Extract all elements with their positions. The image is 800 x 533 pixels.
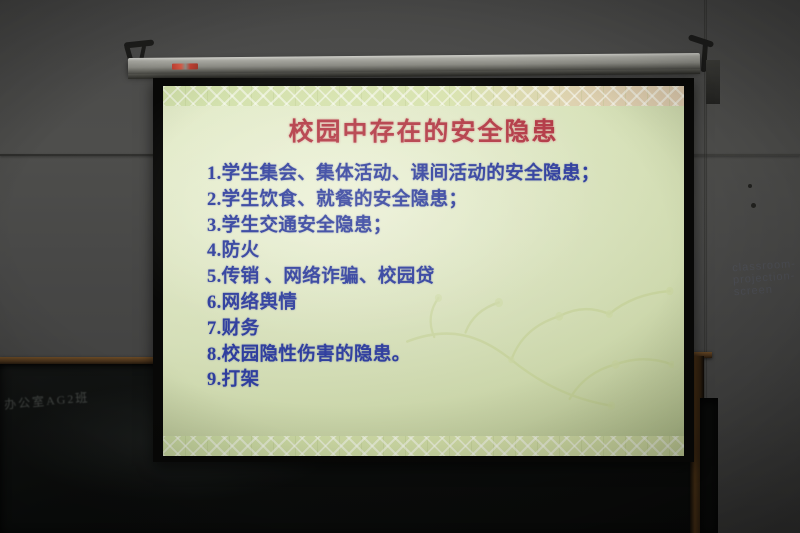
list-item: 5.传销 、网络诈骗、校园贷: [207, 265, 670, 291]
list-item: 6.网络舆情: [207, 291, 670, 317]
slide-border-bottom: [163, 436, 684, 456]
blackboard-top-rail-left: [0, 357, 160, 364]
slide-content: 校园中存在的安全隐患 1.学生集会、集体活动、课间活动的安全隐患； 2.学生饮食…: [163, 106, 684, 436]
list-item: 8.校园隐性伤害的隐患。: [207, 343, 670, 369]
wall-nail-hole-lower: [751, 203, 756, 208]
slide-border-pattern-top: [163, 86, 684, 106]
classroom-scene: classroom-projection-screen 办公室AG2班: [0, 0, 800, 533]
slide-title: 校园中存在的安全隐患: [163, 112, 684, 148]
list-item: 7.财务: [207, 317, 670, 343]
blackboard-edge-shadow: [700, 398, 718, 533]
projected-slide[interactable]: 校园中存在的安全隐患 1.学生集会、集体活动、课间活动的安全隐患； 2.学生饮食…: [163, 86, 684, 456]
list-item: 3.学生交通安全隐患；: [207, 214, 670, 240]
projection-screen-roller-bar[interactable]: [128, 53, 700, 75]
slide-border-top: [163, 86, 684, 106]
screen-brand-logo: [172, 63, 198, 69]
slide-border-pattern-bottom: [163, 436, 684, 456]
slide-hazard-list: 1.学生集会、集体活动、课间活动的安全隐患； 2.学生饮食、就餐的安全隐患； 3…: [207, 162, 670, 394]
wall-scribble: classroom-projection-screen: [732, 258, 800, 299]
list-item: 4.防火: [207, 239, 670, 265]
wall-nail-hole-upper: [748, 184, 752, 188]
list-item: 9.打架: [207, 368, 670, 394]
list-item: 2.学生饮食、就餐的安全隐患；: [207, 188, 670, 214]
list-item: 1.学生集会、集体活动、课间活动的安全隐患；: [207, 162, 670, 188]
